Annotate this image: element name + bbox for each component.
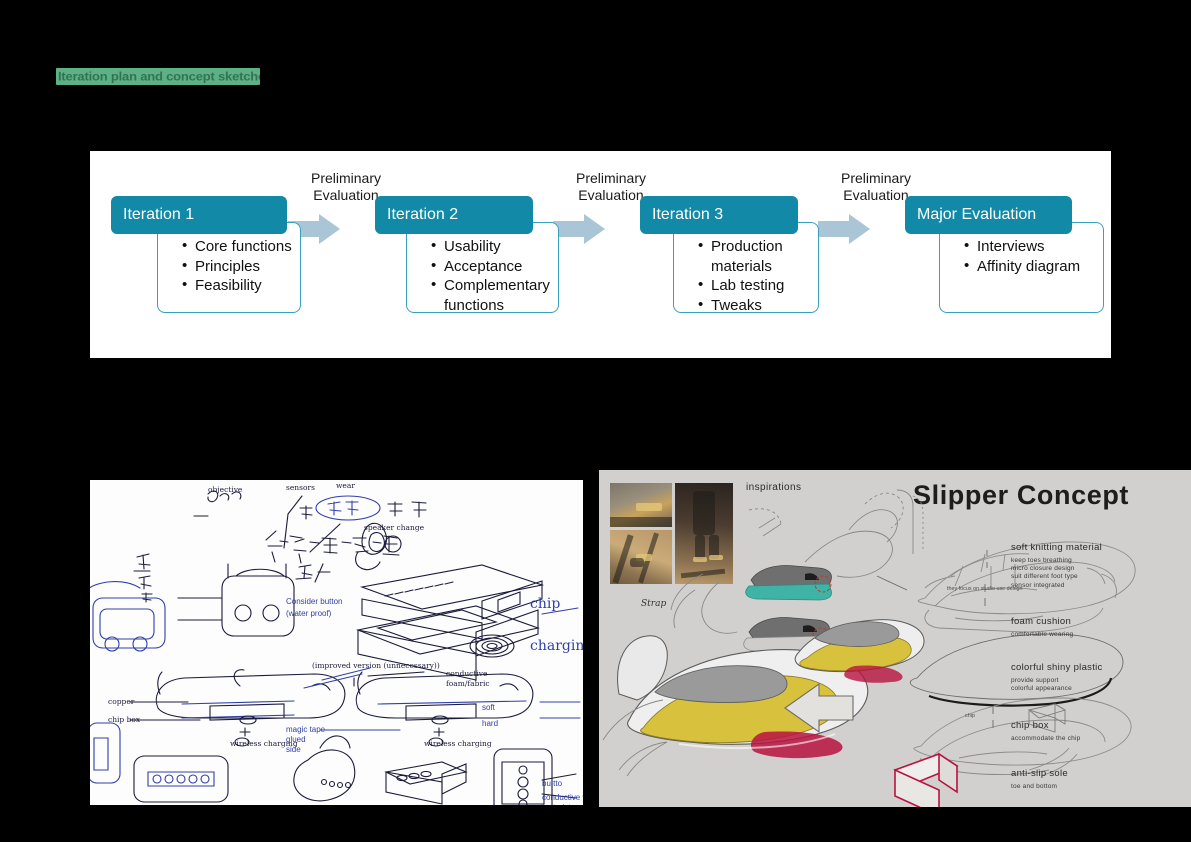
connector-label-1-line1: Preliminary (281, 170, 411, 187)
callout-anti-slip-sole: anti-slip sole toe and bottom (1011, 768, 1179, 791)
flow-arrow-3-icon (818, 214, 870, 244)
stage-4-item: Affinity diagram (964, 257, 1095, 277)
callout-detail: suit different foot type (1011, 573, 1179, 581)
callout-detail: micro closure design (1011, 565, 1179, 573)
stage-2-title: Iteration 2 (375, 196, 533, 234)
sketch-annotation: conductive wire (542, 793, 583, 802)
callout-soft-knitting-material: soft knitting material keep toes breathi… (1011, 542, 1179, 590)
arrow-shaft (818, 221, 851, 237)
callout-detail: colorful appearance (1011, 685, 1179, 693)
stage-3-item: Lab testing (698, 276, 810, 296)
callout-title: chip box (1011, 720, 1179, 731)
stage-3-body: Production materials Lab testing Tweaks (673, 222, 819, 313)
stage-1-title: Iteration 1 (111, 196, 287, 234)
sketch-annotation: speaker change (364, 523, 425, 532)
stage-1-item: Principles (182, 257, 292, 277)
sketch-annotation: wireless charging (424, 739, 492, 748)
callout-colorful-shiny-plastic: colorful shiny plastic provide support c… (1011, 662, 1179, 693)
callout-title: colorful shiny plastic (1011, 662, 1179, 673)
callout-title: foam cushion (1011, 616, 1179, 627)
page-heading-highlight: Iteration plan and concept sketches (56, 68, 260, 85)
stage-3-title: Iteration 3 (640, 196, 798, 234)
stage-4-item: Interviews (964, 237, 1095, 257)
callout-details: keep toes breathing micro closure design… (1011, 557, 1179, 590)
stage-3-item: Production materials (698, 237, 810, 276)
callout-title: anti-slip sole (1011, 768, 1179, 779)
page-heading-text: Iteration plan and concept sketches (58, 69, 260, 83)
callout-detail: provide support (1011, 677, 1179, 685)
arrow-head (849, 214, 870, 244)
arrow-head (319, 214, 340, 244)
sketch-annotation: (improved version (unnecessary)) (312, 661, 440, 670)
stage-3-item: Tweaks (698, 296, 810, 316)
sketch-annotation: magic tape (286, 725, 326, 734)
concept-chip-note: chip (965, 713, 975, 719)
connector-label-2-line1: Preliminary (546, 170, 676, 187)
sketch-annotation: objective (208, 485, 243, 494)
arrow-head (584, 214, 605, 244)
sketch-annotation: charging (530, 638, 583, 654)
concept-sketch-sheet: conductive foam/fabric copper chip box w… (90, 480, 583, 805)
stage-2-item: Acceptance (431, 257, 550, 277)
sketch-annotation: side (286, 745, 301, 754)
sketch-annotation: foam/fabric (446, 679, 490, 688)
callout-chip-box: chip box accommodate the chip (1011, 720, 1179, 743)
sketch-annotation: conductive (446, 669, 488, 678)
callout-detail: keep toes breathing (1011, 557, 1179, 565)
callout-detail: toe and bottom (1011, 783, 1179, 791)
sketch-annotation: wear (336, 481, 355, 490)
callout-detail: sensor integrated (1011, 582, 1179, 590)
iteration-flow-diagram: Preliminary Evaluation Preliminary Evalu… (90, 151, 1111, 358)
sketch-annotation: chip box (108, 715, 141, 724)
sketch-annotation: Consider button (286, 597, 342, 606)
sketch-annotation: footprint (542, 803, 572, 805)
stage-4-body: Interviews Affinity diagram (939, 222, 1104, 313)
stage-1-item: Feasibility (182, 276, 292, 296)
stage-2-body: Usability Acceptance Complementary funct… (406, 222, 559, 313)
sketch-annotation: hard (482, 719, 498, 728)
stage-2-item: Complementary functions (431, 276, 550, 315)
slipper-concept-board: Slipper Concept inspirations (599, 470, 1191, 807)
sketch-drawing: conductive foam/fabric copper chip box w… (90, 480, 583, 805)
callout-detail: comfortable wearing (1011, 631, 1179, 639)
sketch-annotation: glued (286, 735, 306, 744)
sketch-annotation: bu tto (542, 779, 563, 788)
flow-arrow-2-icon (553, 214, 605, 244)
stage-1-body: Core functions Principles Feasibility (157, 222, 301, 313)
callout-details: accommodate the chip (1011, 735, 1179, 743)
sketch-annotation: copper (108, 697, 135, 706)
callout-detail: accommodate the chip (1011, 735, 1179, 743)
callout-title: soft knitting material (1011, 542, 1179, 553)
stage-2-item: Usability (431, 237, 550, 257)
sketch-annotation: soft (482, 703, 496, 712)
callout-details: provide support colorful appearance (1011, 677, 1179, 693)
callout-foam-cushion: foam cushion comfortable wearing (1011, 616, 1179, 639)
sketch-annotation: chip (530, 596, 560, 612)
connector-label-3-line1: Preliminary (811, 170, 941, 187)
concept-strap-note: Strap (641, 599, 666, 609)
callout-details: comfortable wearing (1011, 631, 1179, 639)
sketch-annotation: sensors (286, 483, 315, 492)
stage-4-title: Major Evaluation (905, 196, 1072, 234)
stage-1-item: Core functions (182, 237, 292, 257)
sketch-annotation: (water proof) (286, 609, 332, 618)
callout-details: toe and bottom (1011, 783, 1179, 791)
